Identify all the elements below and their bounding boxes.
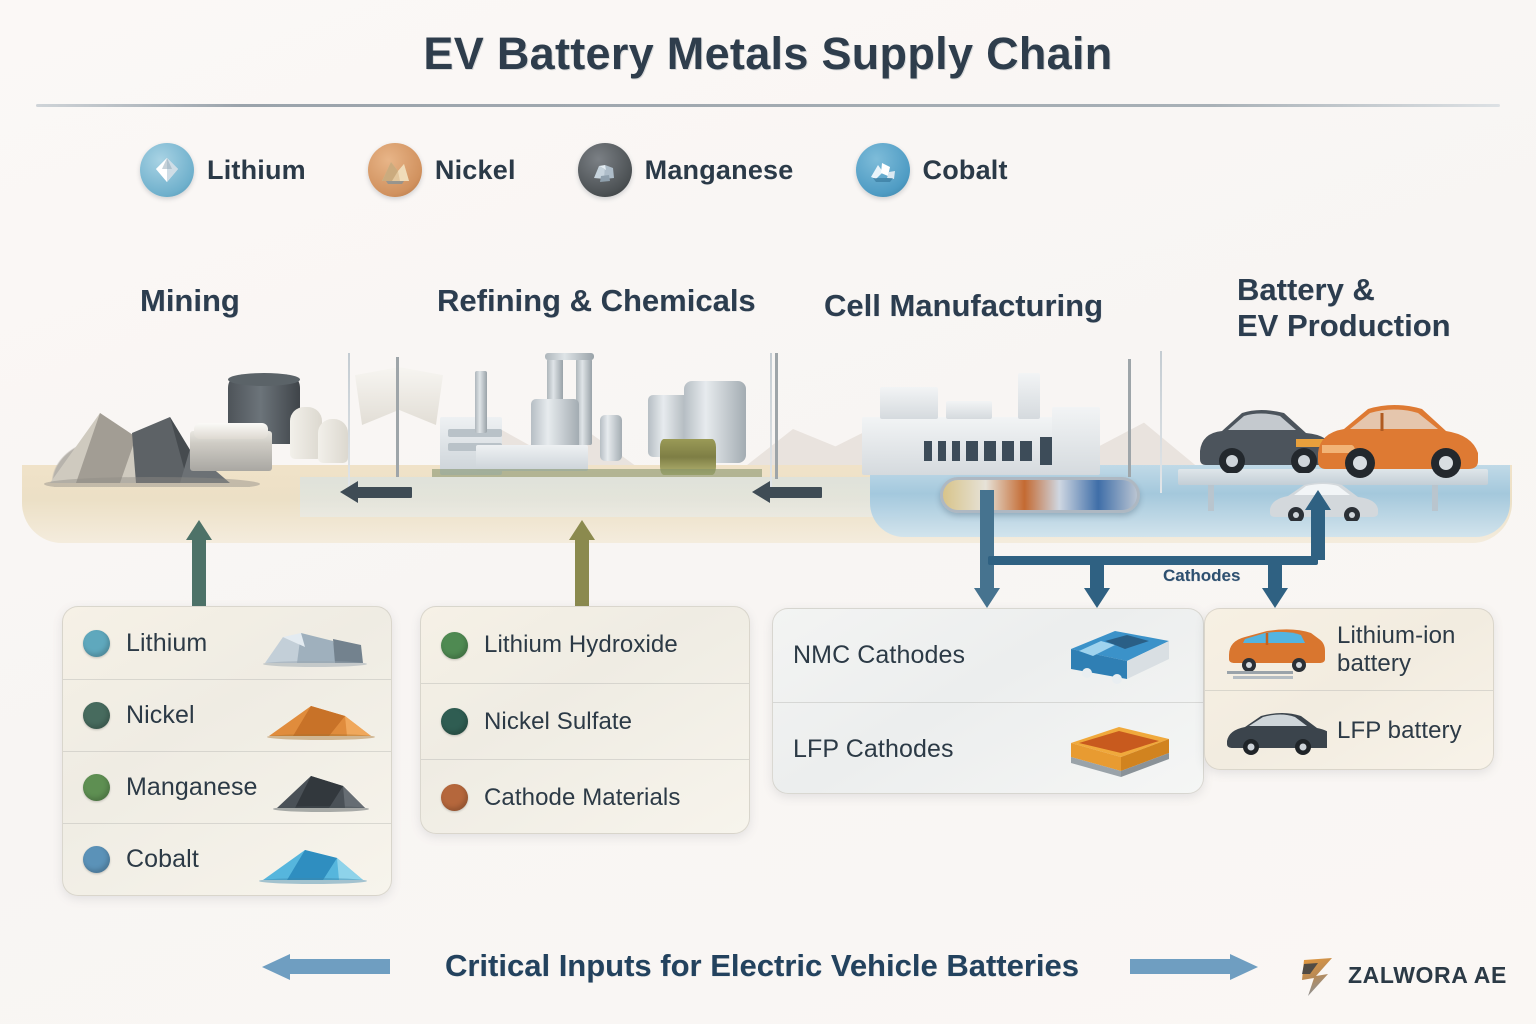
dark-sedan-icon <box>1219 707 1327 757</box>
orange-van-icon <box>1219 621 1327 679</box>
card-row[interactable]: Cobalt <box>63 823 391 895</box>
card-row-label: Cathode Materials <box>484 784 680 812</box>
transport-arrow-to-refining <box>752 487 822 498</box>
connector-arrow-ev-up <box>1311 490 1325 560</box>
brand-name: ZALWORA AE <box>1348 962 1507 989</box>
platform-leg <box>1208 485 1214 511</box>
infographic-canvas: EV Battery Metals Supply Chain Lithium <box>0 0 1536 1024</box>
lithium-crystal-icon <box>140 143 194 197</box>
battery-ev-card[interactable]: Lithium-ion battery LFP battery <box>1204 608 1494 770</box>
connector-arrow-cell-down <box>980 490 994 608</box>
card-row[interactable]: Nickel <box>63 679 391 751</box>
stage-title-mining: Mining <box>140 283 240 319</box>
factory-roof-block <box>880 387 938 419</box>
lithium-rock-icon <box>257 623 377 667</box>
card-row[interactable]: Lithium <box>63 607 391 679</box>
site-tent-illustration <box>355 367 443 425</box>
card-row[interactable]: NMC Cathodes <box>773 609 1203 702</box>
connector-arrow-mining <box>192 520 206 606</box>
antenna-pole <box>775 353 778 479</box>
metals-legend: Lithium Nickel <box>140 143 1054 197</box>
factory-roof-block <box>946 401 992 419</box>
stage-divider <box>348 353 350 495</box>
card-row-label: LFP battery <box>1337 717 1462 745</box>
legend-label-cobalt: Cobalt <box>923 155 1008 186</box>
factory-door <box>1040 437 1052 465</box>
legend-item-nickel[interactable]: Nickel <box>368 143 516 197</box>
status-dot-nickel <box>83 702 110 729</box>
refinery-base <box>432 469 762 477</box>
page-title: EV Battery Metals Supply Chain <box>0 28 1536 80</box>
status-dot-cathode-materials <box>441 784 468 811</box>
status-dot-nickel-sulfate <box>441 708 468 735</box>
platform-leg <box>1432 485 1438 511</box>
factory-window <box>924 441 932 461</box>
ore-sack-illustration <box>318 419 348 463</box>
transport-arrow-to-mining <box>340 487 412 498</box>
factory-window <box>966 441 978 461</box>
light-pole <box>1128 359 1131 477</box>
card-row[interactable]: Cathode Materials <box>421 759 749 834</box>
cobalt-ore-icon <box>856 143 910 197</box>
factory-window <box>952 441 960 461</box>
smokestack <box>475 371 487 433</box>
card-row[interactable]: LFP Cathodes <box>773 702 1203 794</box>
status-dot-cobalt <box>83 846 110 873</box>
card-row-label: Lithium Hydroxide <box>484 631 678 659</box>
status-dot-manganese <box>83 774 110 801</box>
legend-label-manganese: Manganese <box>645 155 794 186</box>
status-dot-lithium <box>83 630 110 657</box>
connector-arrow-refining <box>575 520 589 606</box>
card-row[interactable]: LFP battery <box>1205 690 1493 770</box>
footer-caption: Critical Inputs for Electric Vehicle Bat… <box>404 948 1120 984</box>
factory-window <box>938 441 946 461</box>
connector-arrow-ev-down <box>1268 556 1282 608</box>
card-row-label: Cobalt <box>126 845 199 874</box>
supply-chain-illustration <box>0 345 1536 545</box>
legend-item-manganese[interactable]: Manganese <box>578 143 794 197</box>
footer-banner: Critical Inputs for Electric Vehicle Bat… <box>0 940 1536 1010</box>
card-row-label: Manganese <box>126 773 258 802</box>
cobalt-rock-icon <box>251 842 377 884</box>
factory-window <box>984 441 996 461</box>
blue-ev-icon <box>1053 627 1183 689</box>
stage-divider <box>1160 351 1162 493</box>
nickel-rock-icon <box>259 698 385 740</box>
cathodes-connector-label: Cathodes <box>1163 566 1240 586</box>
stage-title-battery-ev: Battery & EV Production <box>1237 272 1451 344</box>
process-hall <box>476 445 588 471</box>
status-dot-lithium-hydroxide <box>441 632 468 659</box>
legend-item-lithium[interactable]: Lithium <box>140 143 306 197</box>
manganese-rock-icon <box>267 766 385 812</box>
title-divider <box>36 104 1500 107</box>
legend-label-nickel: Nickel <box>435 155 516 186</box>
stack-crossbeam <box>545 353 594 360</box>
card-row[interactable]: Nickel Sulfate <box>421 683 749 759</box>
battery-pack-platform-illustration <box>940 477 1140 513</box>
mineral-crate-illustration <box>190 431 272 471</box>
legend-label-lithium: Lithium <box>207 155 306 186</box>
footer-arrow-left <box>262 954 390 978</box>
card-row[interactable]: Manganese <box>63 751 391 823</box>
refining-outputs-card[interactable]: Lithium Hydroxide Nickel Sulfate Cathode… <box>420 606 750 834</box>
cell-manufacturing-card[interactable]: NMC Cathodes LFP Cathodes <box>772 608 1204 794</box>
mining-outputs-card[interactable]: Lithium Nickel Manganese <box>62 606 392 896</box>
orange-battery-pack-icon <box>1055 723 1183 781</box>
legend-item-cobalt[interactable]: Cobalt <box>856 143 1008 197</box>
card-row-label: Lithium-ion battery <box>1337 622 1456 678</box>
card-row-label: LFP Cathodes <box>793 735 954 764</box>
stage-title-battery-ev-line2: EV Production <box>1237 308 1451 343</box>
orange-hatchback-illustration <box>1308 391 1488 479</box>
factory-chimney <box>1018 373 1040 419</box>
storage-tank <box>600 415 622 461</box>
stage-title-refining: Refining & Chemicals <box>437 283 756 319</box>
flag-pole-illustration <box>396 357 399 477</box>
card-row-label: Nickel <box>126 701 195 730</box>
card-row[interactable]: Lithium-ion battery <box>1205 609 1493 690</box>
cathodes-branch-arrow <box>1090 556 1104 608</box>
zalwora-logo-icon <box>1298 952 1338 998</box>
footer-arrow-right <box>1130 954 1258 978</box>
card-row-label: NMC Cathodes <box>793 641 965 670</box>
brand-lockup: ZALWORA AE <box>1298 952 1507 998</box>
card-row-label: Lithium <box>126 629 207 658</box>
stage-title-cell-manufacturing: Cell Manufacturing <box>824 288 1103 324</box>
stage-title-battery-ev-line1: Battery & <box>1237 272 1375 307</box>
nickel-ore-icon <box>368 143 422 197</box>
card-row[interactable]: Lithium Hydroxide <box>421 607 749 683</box>
factory-side-block <box>1052 407 1100 475</box>
card-row-label: Nickel Sulfate <box>484 708 632 736</box>
factory-window <box>1020 441 1032 461</box>
manganese-ore-icon <box>578 143 632 197</box>
factory-window <box>1002 441 1014 461</box>
stage-divider <box>770 353 772 495</box>
